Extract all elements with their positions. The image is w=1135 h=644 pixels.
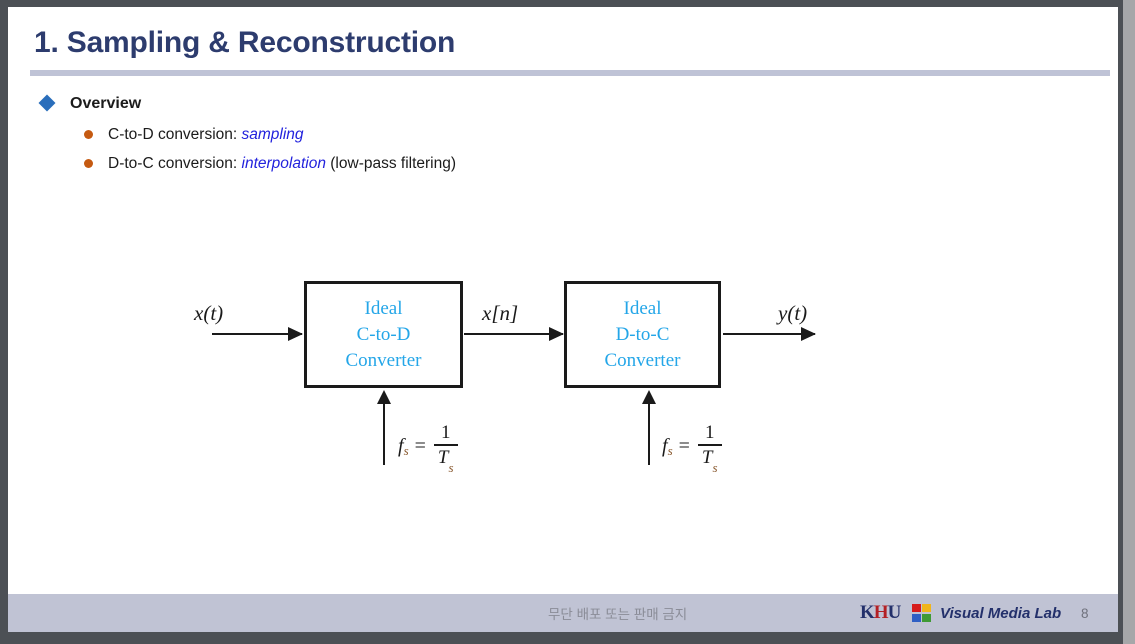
bullet-level2-ctod: C-to-D conversion: sampling — [36, 124, 1036, 145]
bullet-text-prefix: C-to-D conversion: — [108, 126, 242, 143]
khu-logo-icon: KHU — [860, 602, 900, 624]
lab-name-label: Visual Media Lab — [940, 605, 1061, 622]
block-line-1: Ideal — [624, 296, 662, 322]
formula-fraction: 1 Ts — [698, 423, 722, 469]
formula-numerator: 1 — [701, 423, 719, 444]
formula-denominator: Ts — [434, 446, 458, 470]
page-title: 1. Sampling & Reconstruction — [34, 26, 455, 60]
arrow-dtoc-to-output — [723, 333, 815, 335]
signal-label-input: x(t) — [194, 301, 223, 326]
signal-label-output: y(t) — [778, 301, 807, 326]
formula-sampling-frequency-ctod: fs = 1 Ts — [398, 423, 458, 469]
block-line-3: Converter — [346, 348, 422, 374]
formula-denominator-symbol: T — [702, 447, 713, 468]
frame-right-strip — [1123, 0, 1135, 644]
block-ideal-c-to-d-converter: Ideal C-to-D Converter — [304, 281, 463, 388]
diamond-bullet-icon — [39, 95, 56, 112]
footer-copyright-notice: 무단 배포 또는 판매 금지 — [548, 603, 687, 623]
page-number: 8 — [1081, 606, 1089, 621]
slide-canvas: 1. Sampling & Reconstruction Overview C-… — [8, 7, 1118, 632]
square-quadrant-blue — [912, 614, 921, 622]
four-color-square-icon — [912, 604, 931, 622]
block-line-3: Converter — [605, 348, 681, 374]
arrow-sampling-rate-ctod — [383, 403, 385, 465]
bullet-text-prefix: D-to-C conversion: — [108, 155, 242, 172]
formula-fraction: 1 Ts — [434, 423, 458, 469]
formula-equals: = — [415, 435, 426, 458]
dot-bullet-icon — [84, 159, 93, 168]
bullet-text-emphasis: sampling — [242, 126, 304, 143]
block-diagram: x(t) Ideal C-to-D Converter x[n] Ideal D… — [8, 257, 1118, 497]
bullet-text-suffix: (low-pass filtering) — [326, 155, 456, 172]
khu-logo-letter-h: H — [874, 602, 888, 623]
arrow-input-to-ctod — [212, 333, 302, 335]
khu-logo-letter-u: U — [888, 602, 901, 623]
formula-equals: = — [679, 435, 690, 458]
formula-denominator-symbol: T — [438, 447, 449, 468]
formula-symbol-subscript: s — [404, 443, 409, 459]
bullet-text-emphasis: interpolation — [242, 155, 326, 172]
bullet-level1-overview: Overview — [36, 93, 1036, 115]
formula-symbol-subscript: s — [668, 443, 673, 459]
block-line-2: D-to-C — [616, 322, 670, 348]
arrow-sampling-rate-dtoc — [648, 403, 650, 465]
formula-denominator-subscript: s — [712, 460, 717, 475]
formula-numerator: 1 — [437, 423, 455, 444]
khu-logo-letter-k: K — [860, 602, 874, 623]
bullet-level1-label: Overview — [70, 95, 141, 112]
bullet-list: Overview C-to-D conversion: sampling D-t… — [36, 93, 1036, 182]
signal-label-middle: x[n] — [482, 301, 518, 326]
formula-sampling-frequency-dtoc: fs = 1 Ts — [662, 423, 722, 469]
block-ideal-d-to-c-converter: Ideal D-to-C Converter — [564, 281, 721, 388]
square-quadrant-green — [922, 614, 931, 622]
dot-bullet-icon — [84, 130, 93, 139]
formula-denominator-subscript: s — [448, 460, 453, 475]
arrow-ctod-to-dtoc — [464, 333, 563, 335]
block-line-1: Ideal — [365, 296, 403, 322]
square-quadrant-red — [912, 604, 921, 612]
block-line-2: C-to-D — [357, 322, 411, 348]
formula-denominator: Ts — [698, 446, 722, 470]
bullet-level2-dtoc: D-to-C conversion: interpolation (low-pa… — [36, 153, 1036, 174]
square-quadrant-yellow — [922, 604, 931, 612]
slide-frame: 1. Sampling & Reconstruction Overview C-… — [0, 0, 1135, 644]
title-divider — [30, 70, 1110, 76]
slide-footer: 무단 배포 또는 판매 금지 KHU Visual Media Lab 8 — [8, 594, 1118, 632]
